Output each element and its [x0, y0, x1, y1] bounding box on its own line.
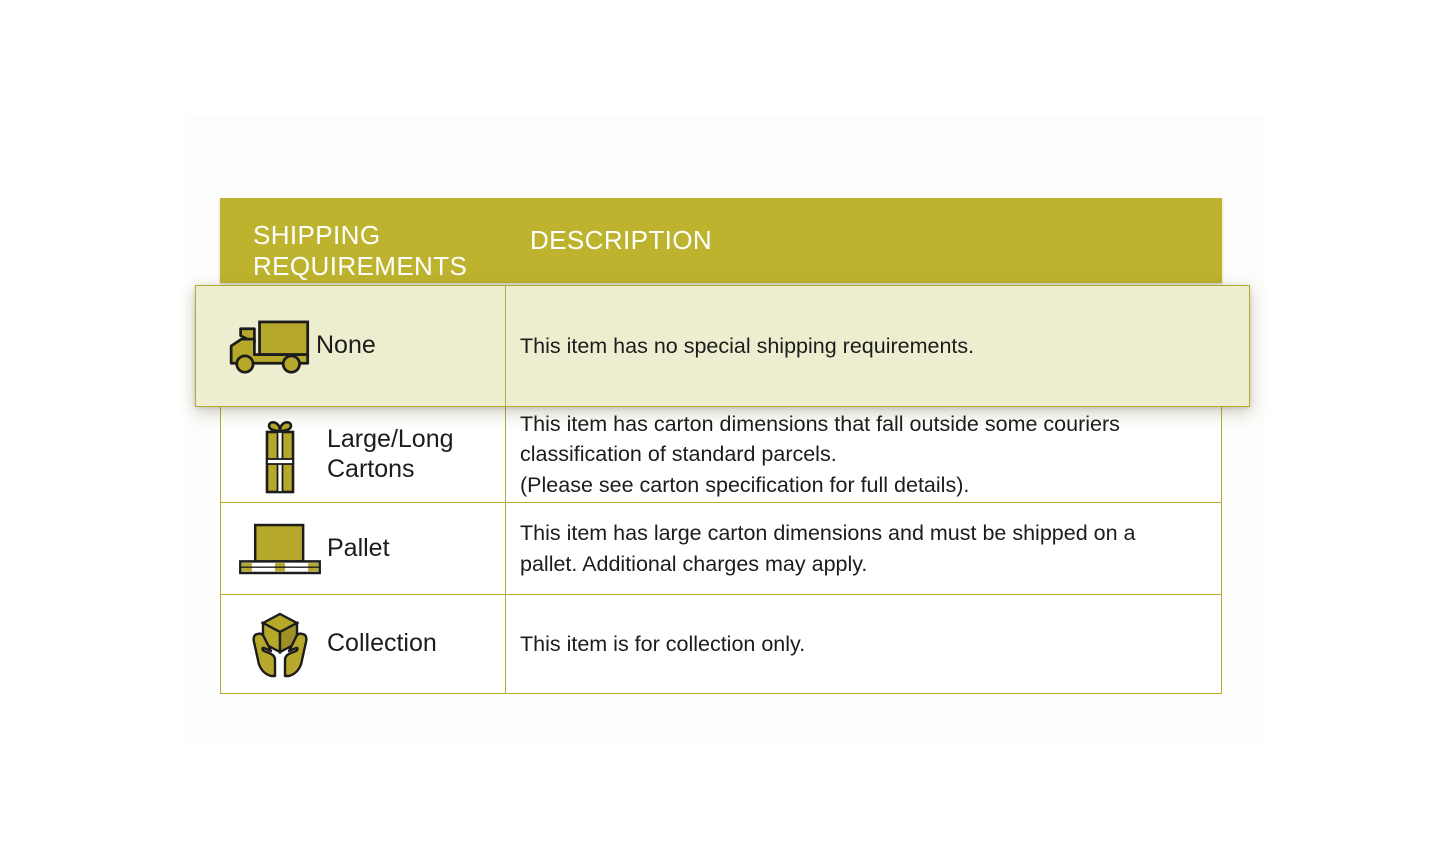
- requirement-description: This item has large carton dimensions an…: [520, 518, 1135, 579]
- requirement-label: Large/Long Cartons: [327, 425, 505, 484]
- gift-carton-icon: [237, 412, 323, 498]
- requirement-description-cell: This item has no special shipping requir…: [506, 286, 1249, 406]
- column-header-description: DESCRIPTION: [530, 198, 712, 283]
- requirement-description: This item is for collection only.: [520, 629, 805, 660]
- requirement-label: None: [316, 331, 376, 361]
- hands-holding-box-icon: [237, 601, 323, 687]
- requirement-description-cell: This item is for collection only.: [506, 595, 1221, 693]
- table-row-highlighted[interactable]: None This item has no special shipping r…: [195, 285, 1250, 407]
- pallet-icon: [237, 506, 323, 592]
- shipping-requirements-table: SHIPPING REQUIREMENTS DESCRIPTION Large/…: [0, 0, 1445, 860]
- table-header-row: SHIPPING REQUIREMENTS DESCRIPTION: [220, 198, 1222, 283]
- requirement-description-cell: This item has large carton dimensions an…: [506, 503, 1221, 594]
- requirement-label-cell: Pallet: [221, 503, 506, 594]
- table-row[interactable]: Collection This item is for collection o…: [220, 595, 1222, 694]
- delivery-truck-icon: [226, 303, 312, 389]
- requirement-label: Collection: [327, 629, 437, 659]
- requirement-label: Pallet: [327, 534, 390, 564]
- requirement-label-cell: Large/Long Cartons: [221, 407, 506, 502]
- requirement-description-cell: This item has carton dimensions that fal…: [506, 407, 1221, 502]
- requirement-description: This item has carton dimensions that fal…: [520, 409, 1120, 501]
- table-row[interactable]: Pallet This item has large carton dimens…: [220, 503, 1222, 595]
- requirement-description: This item has no special shipping requir…: [520, 331, 974, 362]
- requirement-label-cell: None: [196, 286, 506, 406]
- requirement-label-cell: Collection: [221, 595, 506, 693]
- table-row[interactable]: Large/Long Cartons This item has carton …: [220, 407, 1222, 503]
- column-header-shipping-requirements: SHIPPING REQUIREMENTS: [253, 220, 503, 281]
